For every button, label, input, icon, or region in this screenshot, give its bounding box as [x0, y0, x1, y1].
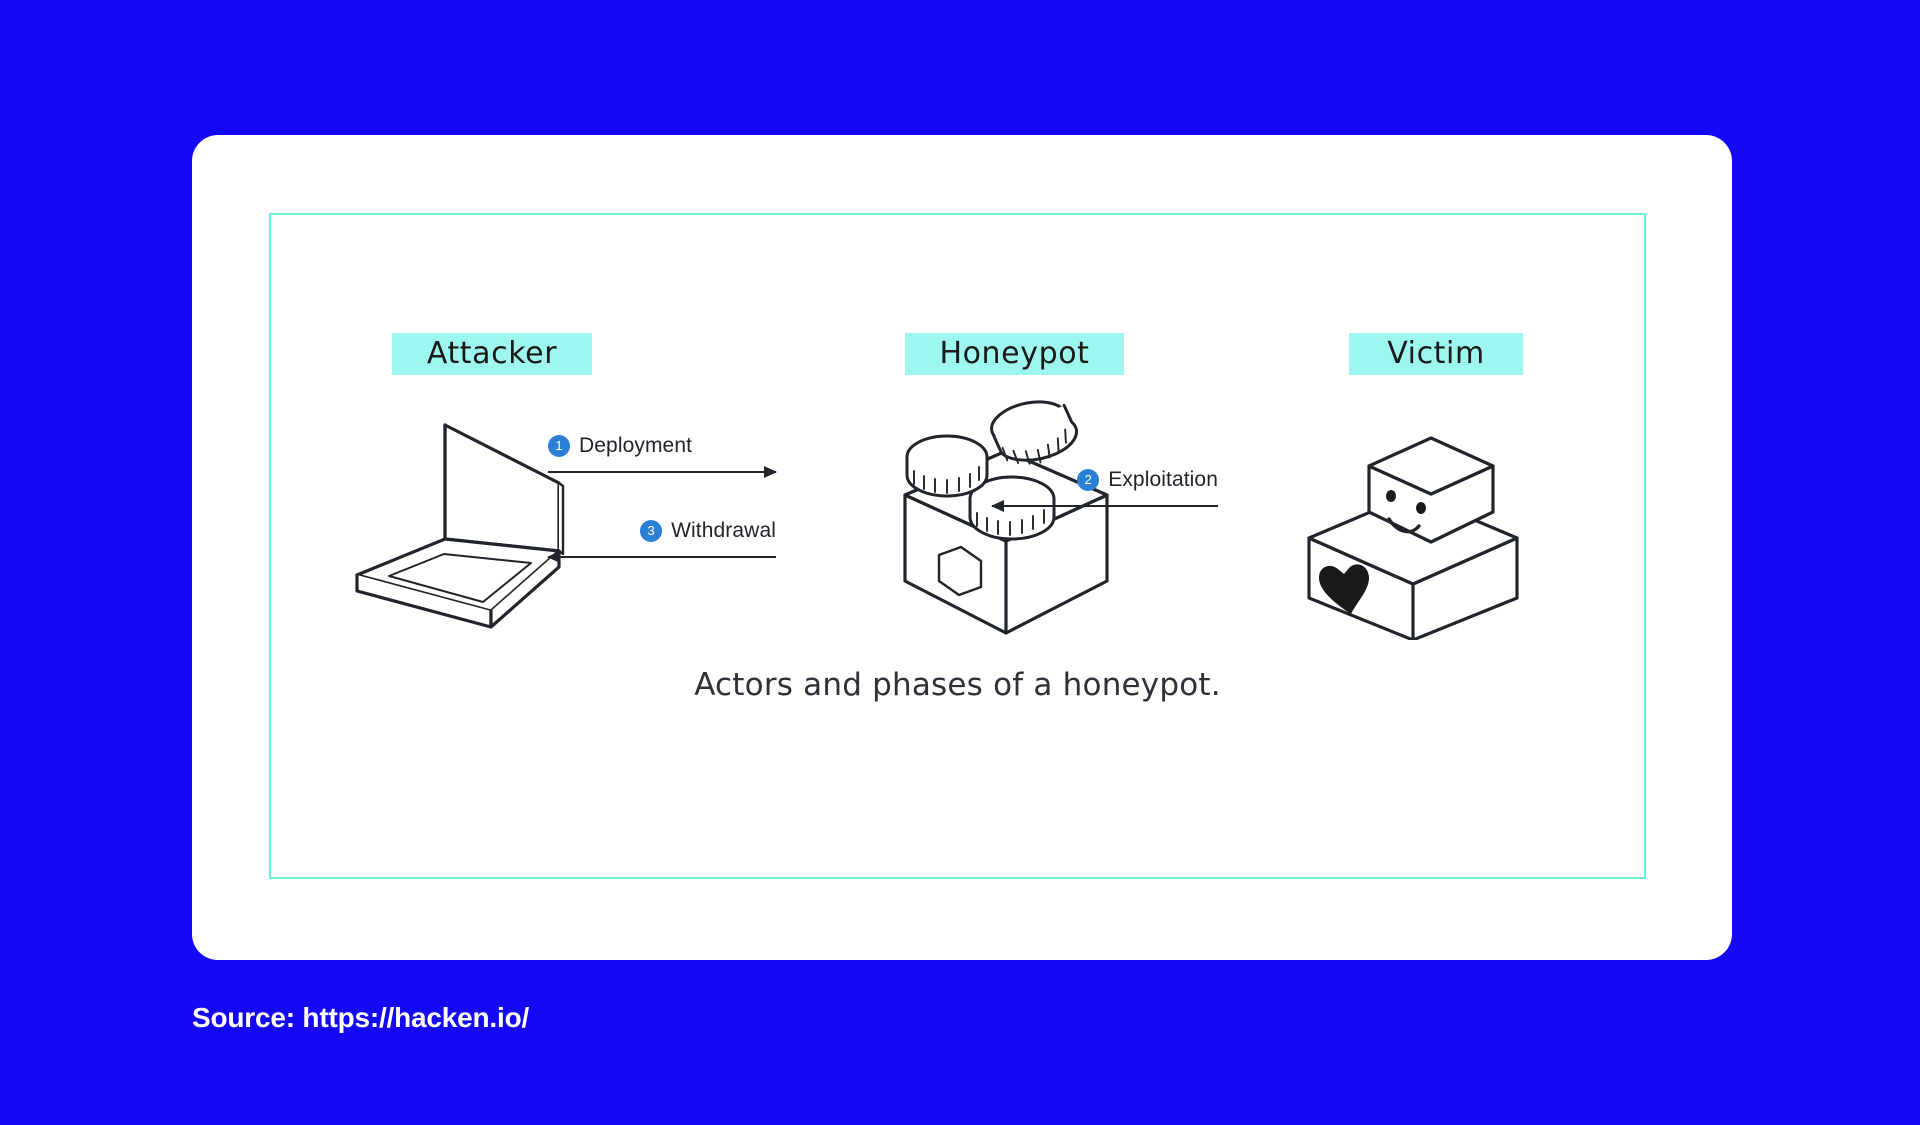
flow-deployment-text: Deployment — [579, 434, 692, 458]
arrow-head-right-icon — [764, 466, 777, 478]
arrow-head-left-icon — [991, 500, 1004, 512]
arrow-shaft — [992, 505, 1218, 507]
arrow-shaft — [548, 556, 776, 558]
flow-exploitation-label: 2 Exploitation — [992, 467, 1218, 493]
arrow-shaft — [548, 471, 776, 473]
flow-withdrawal: 3 Withdrawal — [548, 518, 776, 564]
flow-deployment-badge: 1 — [548, 435, 570, 457]
flow-deployment-arrow — [548, 465, 776, 479]
flow-withdrawal-arrow — [548, 550, 776, 564]
flow-exploitation: 2 Exploitation — [992, 467, 1218, 513]
flow-withdrawal-text: Withdrawal — [671, 519, 776, 543]
flow-withdrawal-label: 3 Withdrawal — [548, 518, 776, 544]
flow-exploitation-badge: 2 — [1077, 469, 1099, 491]
diagram-card: Attacker Honeypot Victim — [192, 135, 1732, 960]
figure-frame: Attacker Honeypot Victim — [269, 213, 1646, 879]
flow-exploitation-arrow — [992, 499, 1218, 513]
flow-deployment-label: 1 Deployment — [548, 433, 776, 459]
flow-deployment: 1 Deployment — [548, 433, 776, 479]
arrow-head-left-icon — [547, 551, 560, 563]
character-heart-icon — [1291, 420, 1541, 640]
flow-withdrawal-badge: 3 — [640, 520, 662, 542]
flow-exploitation-text: Exploitation — [1108, 468, 1218, 492]
actor-label-attacker: Attacker — [392, 333, 592, 375]
actor-label-victim: Victim — [1349, 333, 1523, 375]
coin-box-icon — [881, 395, 1131, 645]
figure-caption: Actors and phases of a honeypot. — [271, 667, 1644, 703]
actor-label-honeypot: Honeypot — [905, 333, 1124, 375]
source-attribution: Source: https://hacken.io/ — [192, 1002, 529, 1034]
